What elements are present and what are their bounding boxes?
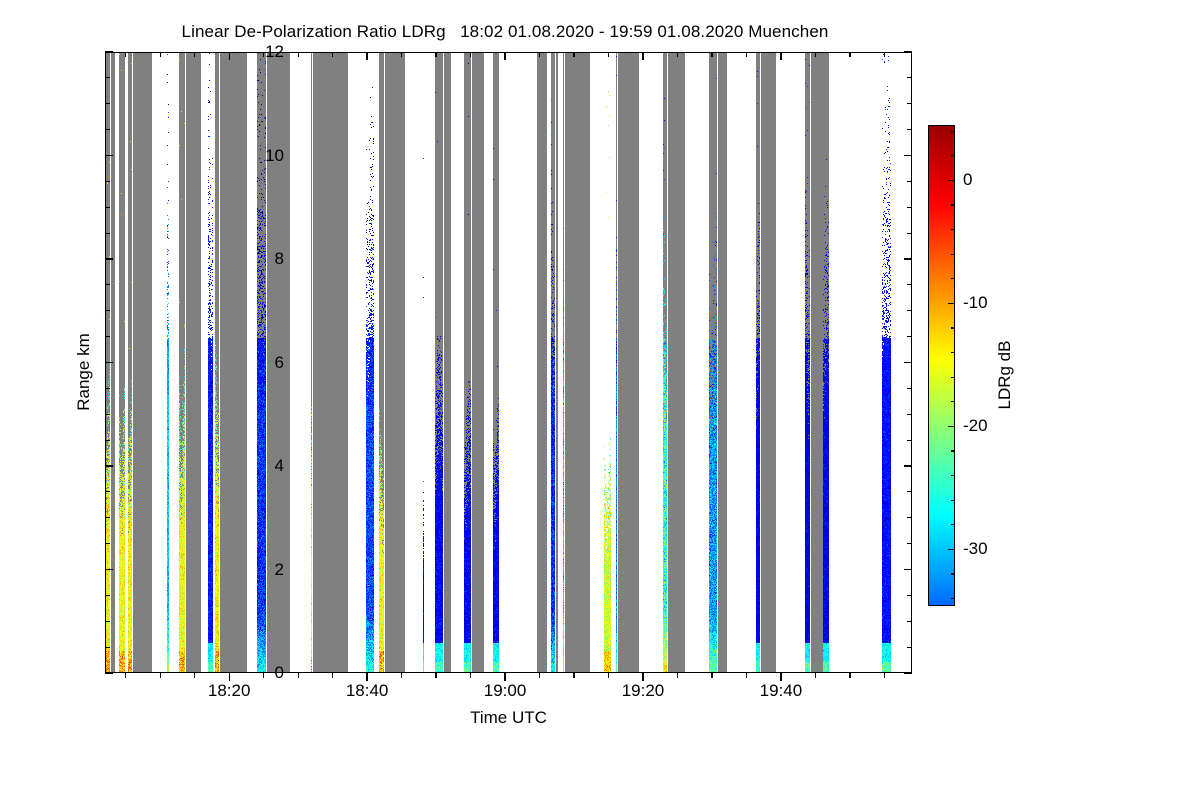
y-axis-label: Range km — [74, 272, 94, 472]
colorbar-tick-label-neg30: -30 — [963, 539, 988, 559]
x-minor-tick — [884, 673, 885, 678]
y-minor-tick-right — [907, 129, 912, 130]
y-minor-tick — [105, 129, 110, 130]
colorbar-tick-mark — [948, 180, 955, 181]
y-minor-tick — [105, 233, 110, 234]
x-minor-tick — [849, 673, 850, 678]
x-tick-label-1820: 18:20 — [184, 681, 274, 701]
y-minor-tick — [105, 310, 110, 311]
x-tick-mark — [642, 673, 643, 681]
colorbar-minor-tick — [951, 352, 955, 353]
colorbar-minor-tick — [951, 377, 955, 378]
colorbar-tick-label-neg20: -20 — [963, 416, 988, 436]
colorbar-tick-label-neg10: -10 — [963, 293, 988, 313]
x-minor-tick-top — [849, 52, 850, 57]
y-minor-tick-right — [907, 595, 912, 596]
x-minor-tick — [125, 673, 126, 678]
x-tick-mark-top — [229, 52, 230, 60]
y-minor-tick-right — [907, 77, 912, 78]
y-tick-label-10: 10 — [224, 146, 284, 166]
y-tick-mark — [105, 672, 113, 673]
colorbar-minor-tick — [951, 598, 955, 599]
x-minor-tick — [746, 673, 747, 678]
y-minor-tick — [105, 440, 110, 441]
y-minor-tick-right — [907, 336, 912, 337]
y-tick-label-6: 6 — [224, 353, 284, 373]
x-minor-tick — [160, 673, 161, 678]
x-minor-tick — [332, 673, 333, 678]
x-minor-tick — [711, 673, 712, 678]
y-minor-tick-right — [907, 647, 912, 648]
y-minor-tick-right — [907, 103, 912, 104]
y-minor-tick — [105, 207, 110, 208]
x-minor-tick-top — [298, 52, 299, 57]
colorbar-minor-tick — [951, 475, 955, 476]
y-tick-mark-right — [904, 569, 912, 570]
y-tick-label-2: 2 — [224, 560, 284, 580]
y-tick-mark-right — [904, 258, 912, 259]
x-minor-tick — [194, 673, 195, 678]
y-minor-tick-right — [907, 233, 912, 234]
colorbar-minor-tick — [951, 254, 955, 255]
y-minor-tick — [105, 595, 110, 596]
x-minor-tick — [263, 673, 264, 678]
y-minor-tick — [105, 103, 110, 104]
colorbar-minor-tick — [951, 573, 955, 574]
x-minor-tick — [435, 673, 436, 678]
y-tick-mark-right — [904, 51, 912, 52]
x-minor-tick-top — [401, 52, 402, 57]
y-tick-label-8: 8 — [224, 249, 284, 269]
x-minor-tick — [470, 673, 471, 678]
colorbar-minor-tick — [951, 450, 955, 451]
x-tick-mark — [229, 673, 230, 681]
colorbar-label: LDRg dB — [995, 275, 1015, 475]
colorbar-minor-tick — [951, 131, 955, 132]
colorbar-minor-tick — [951, 524, 955, 525]
y-minor-tick — [105, 388, 110, 389]
y-tick-mark — [105, 465, 113, 466]
y-minor-tick-right — [907, 621, 912, 622]
y-minor-tick — [105, 414, 110, 415]
colorbar-minor-tick — [951, 327, 955, 328]
x-minor-tick-top — [746, 52, 747, 57]
y-minor-tick-right — [907, 517, 912, 518]
x-minor-tick-top — [677, 52, 678, 57]
y-minor-tick-right — [907, 207, 912, 208]
colorbar-minor-tick — [951, 229, 955, 230]
y-tick-mark-right — [904, 672, 912, 673]
x-tick-mark-top — [504, 52, 505, 60]
x-minor-tick-top — [332, 52, 333, 57]
y-tick-mark — [105, 51, 113, 52]
x-minor-tick-top — [884, 52, 885, 57]
x-tick-mark — [780, 673, 781, 681]
y-minor-tick — [105, 517, 110, 518]
x-tick-mark-top — [642, 52, 643, 60]
y-minor-tick — [105, 284, 110, 285]
x-minor-tick — [573, 673, 574, 678]
figure-canvas: Linear De-Polarization Ratio LDRg 18:02 … — [0, 0, 1200, 800]
y-minor-tick — [105, 491, 110, 492]
y-tick-mark-right — [904, 362, 912, 363]
x-minor-tick — [298, 673, 299, 678]
y-tick-mark — [105, 258, 113, 259]
colorbar-tick-label-0: 0 — [963, 170, 972, 190]
y-minor-tick — [105, 77, 110, 78]
x-minor-tick-top — [263, 52, 264, 57]
x-tick-label-1840: 18:40 — [322, 681, 412, 701]
x-minor-tick-top — [573, 52, 574, 57]
y-minor-tick — [105, 181, 110, 182]
y-tick-label-12: 12 — [224, 42, 284, 62]
x-minor-tick-top — [608, 52, 609, 57]
x-axis-label: Time UTC — [105, 708, 912, 728]
y-minor-tick — [105, 647, 110, 648]
y-minor-tick-right — [907, 491, 912, 492]
x-tick-mark-top — [366, 52, 367, 60]
y-minor-tick-right — [907, 440, 912, 441]
colorbar-tick-mark — [948, 426, 955, 427]
plot-title: Linear De-Polarization Ratio LDRg 18:02 … — [0, 22, 1010, 42]
x-minor-tick-top — [194, 52, 195, 57]
x-tick-mark — [366, 673, 367, 681]
x-tick-mark-top — [780, 52, 781, 60]
x-minor-tick-top — [815, 52, 816, 57]
x-minor-tick-top — [125, 52, 126, 57]
y-minor-tick-right — [907, 388, 912, 389]
y-tick-label-0: 0 — [224, 663, 284, 683]
y-minor-tick-right — [907, 543, 912, 544]
y-minor-tick — [105, 336, 110, 337]
y-tick-mark — [105, 155, 113, 156]
x-minor-tick — [539, 673, 540, 678]
colorbar-tick-mark — [948, 303, 955, 304]
x-tick-mark — [504, 673, 505, 681]
colorbar — [928, 125, 955, 606]
colorbar-minor-tick — [951, 204, 955, 205]
colorbar-minor-tick — [951, 278, 955, 279]
x-minor-tick — [608, 673, 609, 678]
x-minor-tick — [677, 673, 678, 678]
x-tick-label-1940: 19:40 — [736, 681, 826, 701]
y-tick-label-4: 4 — [224, 456, 284, 476]
y-minor-tick-right — [907, 284, 912, 285]
x-minor-tick-top — [539, 52, 540, 57]
y-minor-tick-right — [907, 310, 912, 311]
colorbar-minor-tick — [951, 500, 955, 501]
y-tick-mark — [105, 362, 113, 363]
y-minor-tick-right — [907, 414, 912, 415]
x-minor-tick-top — [435, 52, 436, 57]
colorbar-gradient — [929, 126, 955, 606]
y-tick-mark-right — [904, 155, 912, 156]
x-tick-label-1900: 19:00 — [460, 681, 550, 701]
y-tick-mark — [105, 569, 113, 570]
x-minor-tick-top — [711, 52, 712, 57]
x-minor-tick — [401, 673, 402, 678]
colorbar-minor-tick — [951, 401, 955, 402]
colorbar-minor-tick — [951, 155, 955, 156]
x-minor-tick-top — [160, 52, 161, 57]
y-minor-tick — [105, 543, 110, 544]
x-minor-tick-top — [470, 52, 471, 57]
y-tick-mark-right — [904, 465, 912, 466]
x-tick-label-1920: 19:20 — [598, 681, 688, 701]
colorbar-tick-mark — [948, 549, 955, 550]
y-minor-tick-right — [907, 181, 912, 182]
y-minor-tick — [105, 621, 110, 622]
x-minor-tick — [815, 673, 816, 678]
